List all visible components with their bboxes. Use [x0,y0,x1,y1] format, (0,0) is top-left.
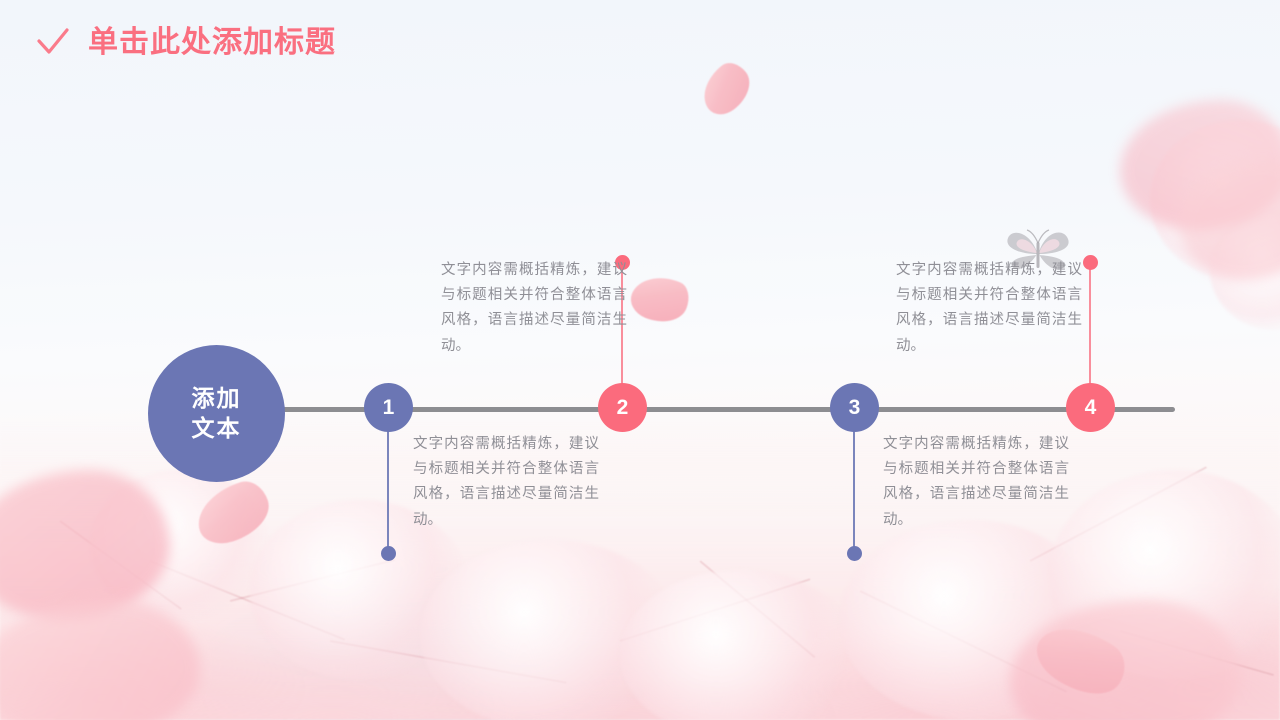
foreground-petal-blur [0,600,200,720]
foreground-petal-blur [1010,600,1240,720]
timeline-stem-3 [853,420,855,553]
hub-label-line1: 添加 [192,384,242,413]
branch-stroke [699,560,815,658]
branch-stroke [860,590,1068,693]
timeline-node-3-number: 3 [849,396,861,420]
timeline-node-2[interactable]: 2 [598,383,647,432]
floating-petal [693,56,760,121]
timeline-node-4-number: 4 [1085,396,1097,420]
blossom-cluster [1050,470,1280,680]
timeline-node-1[interactable]: 1 [364,383,413,432]
floating-petal [625,267,694,331]
timeline-endcap-3 [847,546,862,561]
branch-stroke [230,559,395,602]
floating-petal [189,476,276,550]
timeline-node-4[interactable]: 4 [1066,383,1115,432]
branch-stroke [330,640,567,684]
timeline-node-1-number: 1 [383,396,395,420]
timeline-note-2: 文字内容需概括精炼，建议与标题相关并符合整体语言风格，语言描述尽量简洁生动。 [441,258,627,359]
branch-stroke [150,560,345,641]
blossom-cluster [90,470,270,620]
branch-stroke [620,578,811,642]
timeline-stem-4 [1089,266,1091,389]
blossom-cluster [620,570,860,720]
timeline-endcap-4 [1083,255,1098,270]
hub-label-line2: 文本 [192,414,242,443]
timeline-endcap-1 [381,546,396,561]
blossom-cluster [420,540,680,720]
timeline-note-3: 文字内容需概括精炼，建议与标题相关并符合整体语言风格，语言描述尽量简洁生动。 [883,432,1069,533]
timeline-stem-1 [387,420,389,553]
check-icon [36,26,70,60]
foreground-petal-blur [0,470,170,620]
timeline-note-4: 文字内容需概括精炼，建议与标题相关并符合整体语言风格，语言描述尽量简洁生动。 [896,258,1082,359]
blossom-cluster [1210,210,1280,330]
timeline-node-3[interactable]: 3 [830,383,879,432]
timeline-note-1: 文字内容需概括精炼，建议与标题相关并符合整体语言风格，语言描述尽量简洁生动。 [413,432,599,533]
foreground-petal-blur [1120,100,1280,230]
slide-canvas: 单击此处添加标题 添加 文本 1 文字内容需概括精炼，建议与标题相关并符合整体语… [0,0,1280,720]
branch-stroke [59,520,182,610]
branch-stroke [1120,630,1274,676]
timeline-node-2-number: 2 [617,396,629,420]
page-title: 单击此处添加标题 [88,28,336,58]
slide-header: 单击此处添加标题 [36,26,336,60]
timeline-hub[interactable]: 添加 文本 [148,345,285,482]
floating-petal [1027,610,1135,710]
blossom-cluster [840,520,1100,720]
blossom-cluster [1150,120,1280,280]
foreground-petal-blur [1180,160,1280,280]
